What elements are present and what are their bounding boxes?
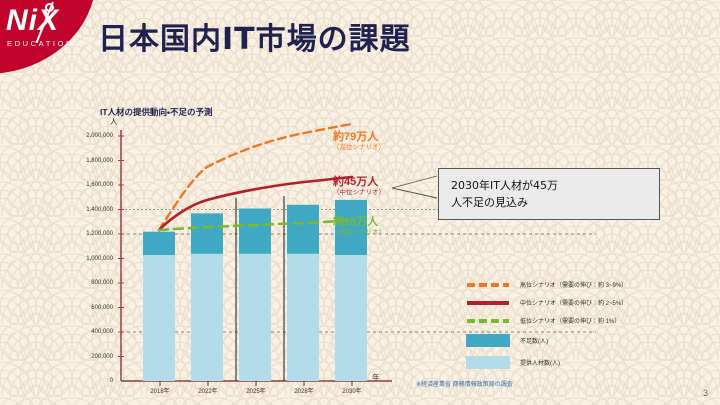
- callout-box: 2030年IT人材が45万 人不足の見込み: [438, 168, 660, 220]
- x-tick: 2028年: [294, 386, 313, 395]
- page-number: 3: [703, 388, 708, 398]
- annotation-mid-value: 約45万人: [333, 176, 385, 188]
- legend-key-dashed-orange: [466, 279, 510, 291]
- legend-label: 不足数(人): [520, 336, 548, 345]
- annotation-low: 約16万人 （低位シナリオ）: [333, 216, 385, 237]
- callout-line-1: 2030年IT人材が45万: [451, 177, 651, 194]
- annotation-low-value: 約16万人: [333, 216, 385, 228]
- callout-leader: [392, 176, 437, 188]
- legend-label: 提供人材数(人): [520, 358, 560, 367]
- legend-item-mid: 中位シナリオ（需要の伸び：約 2~5%）: [462, 296, 712, 314]
- legend-item-low: 低位シナリオ（需要の伸び：約 1%）: [462, 314, 712, 332]
- legend-item-supply: 提供人材数(人): [462, 354, 712, 376]
- legend-label: 高位シナリオ（需要の伸び：約 3~9%）: [520, 280, 627, 289]
- x-tick: 2025年: [246, 386, 265, 395]
- callout-leader-2: [392, 188, 437, 198]
- annotation-high: 約79万人 （高位シナリオ）: [333, 131, 385, 152]
- legend-item-high: 高位シナリオ（需要の伸び：約 3~9%）: [462, 278, 712, 296]
- chart-legend: 高位シナリオ（需要の伸び：約 3~9%） 中位シナリオ（需要の伸び：約 2~5%…: [462, 278, 712, 376]
- slide-root: NiX EDUCATION 日本国内IT市場の課題 IT人材の提供動向・不足の予…: [0, 0, 720, 405]
- x-tick: 2022年: [198, 386, 217, 395]
- legend-swatch-teal: [466, 334, 510, 347]
- legend-label: 低位シナリオ（需要の伸び：約 1%）: [520, 316, 620, 325]
- annotation-high-scenario: （高位シナリオ）: [333, 143, 385, 152]
- x-tick: 2018年: [150, 386, 169, 395]
- source-note: ※経済産業省 商務情報政策局の調査: [416, 379, 513, 388]
- callout-line-2: 人不足の見込み: [451, 194, 651, 211]
- x-tick: 2030年: [342, 386, 361, 395]
- legend-label: 中位シナリオ（需要の伸び：約 2~5%）: [520, 298, 627, 307]
- bars-supply: [143, 254, 367, 381]
- legend-swatch-lightblue: [466, 356, 510, 369]
- legend-key-solid-red: [466, 297, 510, 309]
- annotation-mid-scenario: （中位シナリオ）: [333, 188, 385, 197]
- annotation-high-value: 約79万人: [333, 131, 385, 143]
- page-title: 日本国内IT市場の課題: [98, 14, 411, 58]
- legend-key-dashed-green: [466, 315, 510, 327]
- legend-item-shortage: 不足数(人): [462, 332, 712, 354]
- annotation-mid: 約45万人 （中位シナリオ）: [333, 176, 385, 197]
- callout-text: 2030年IT人材が45万 人不足の見込み: [451, 177, 651, 211]
- annotation-low-scenario: （低位シナリオ）: [333, 228, 385, 237]
